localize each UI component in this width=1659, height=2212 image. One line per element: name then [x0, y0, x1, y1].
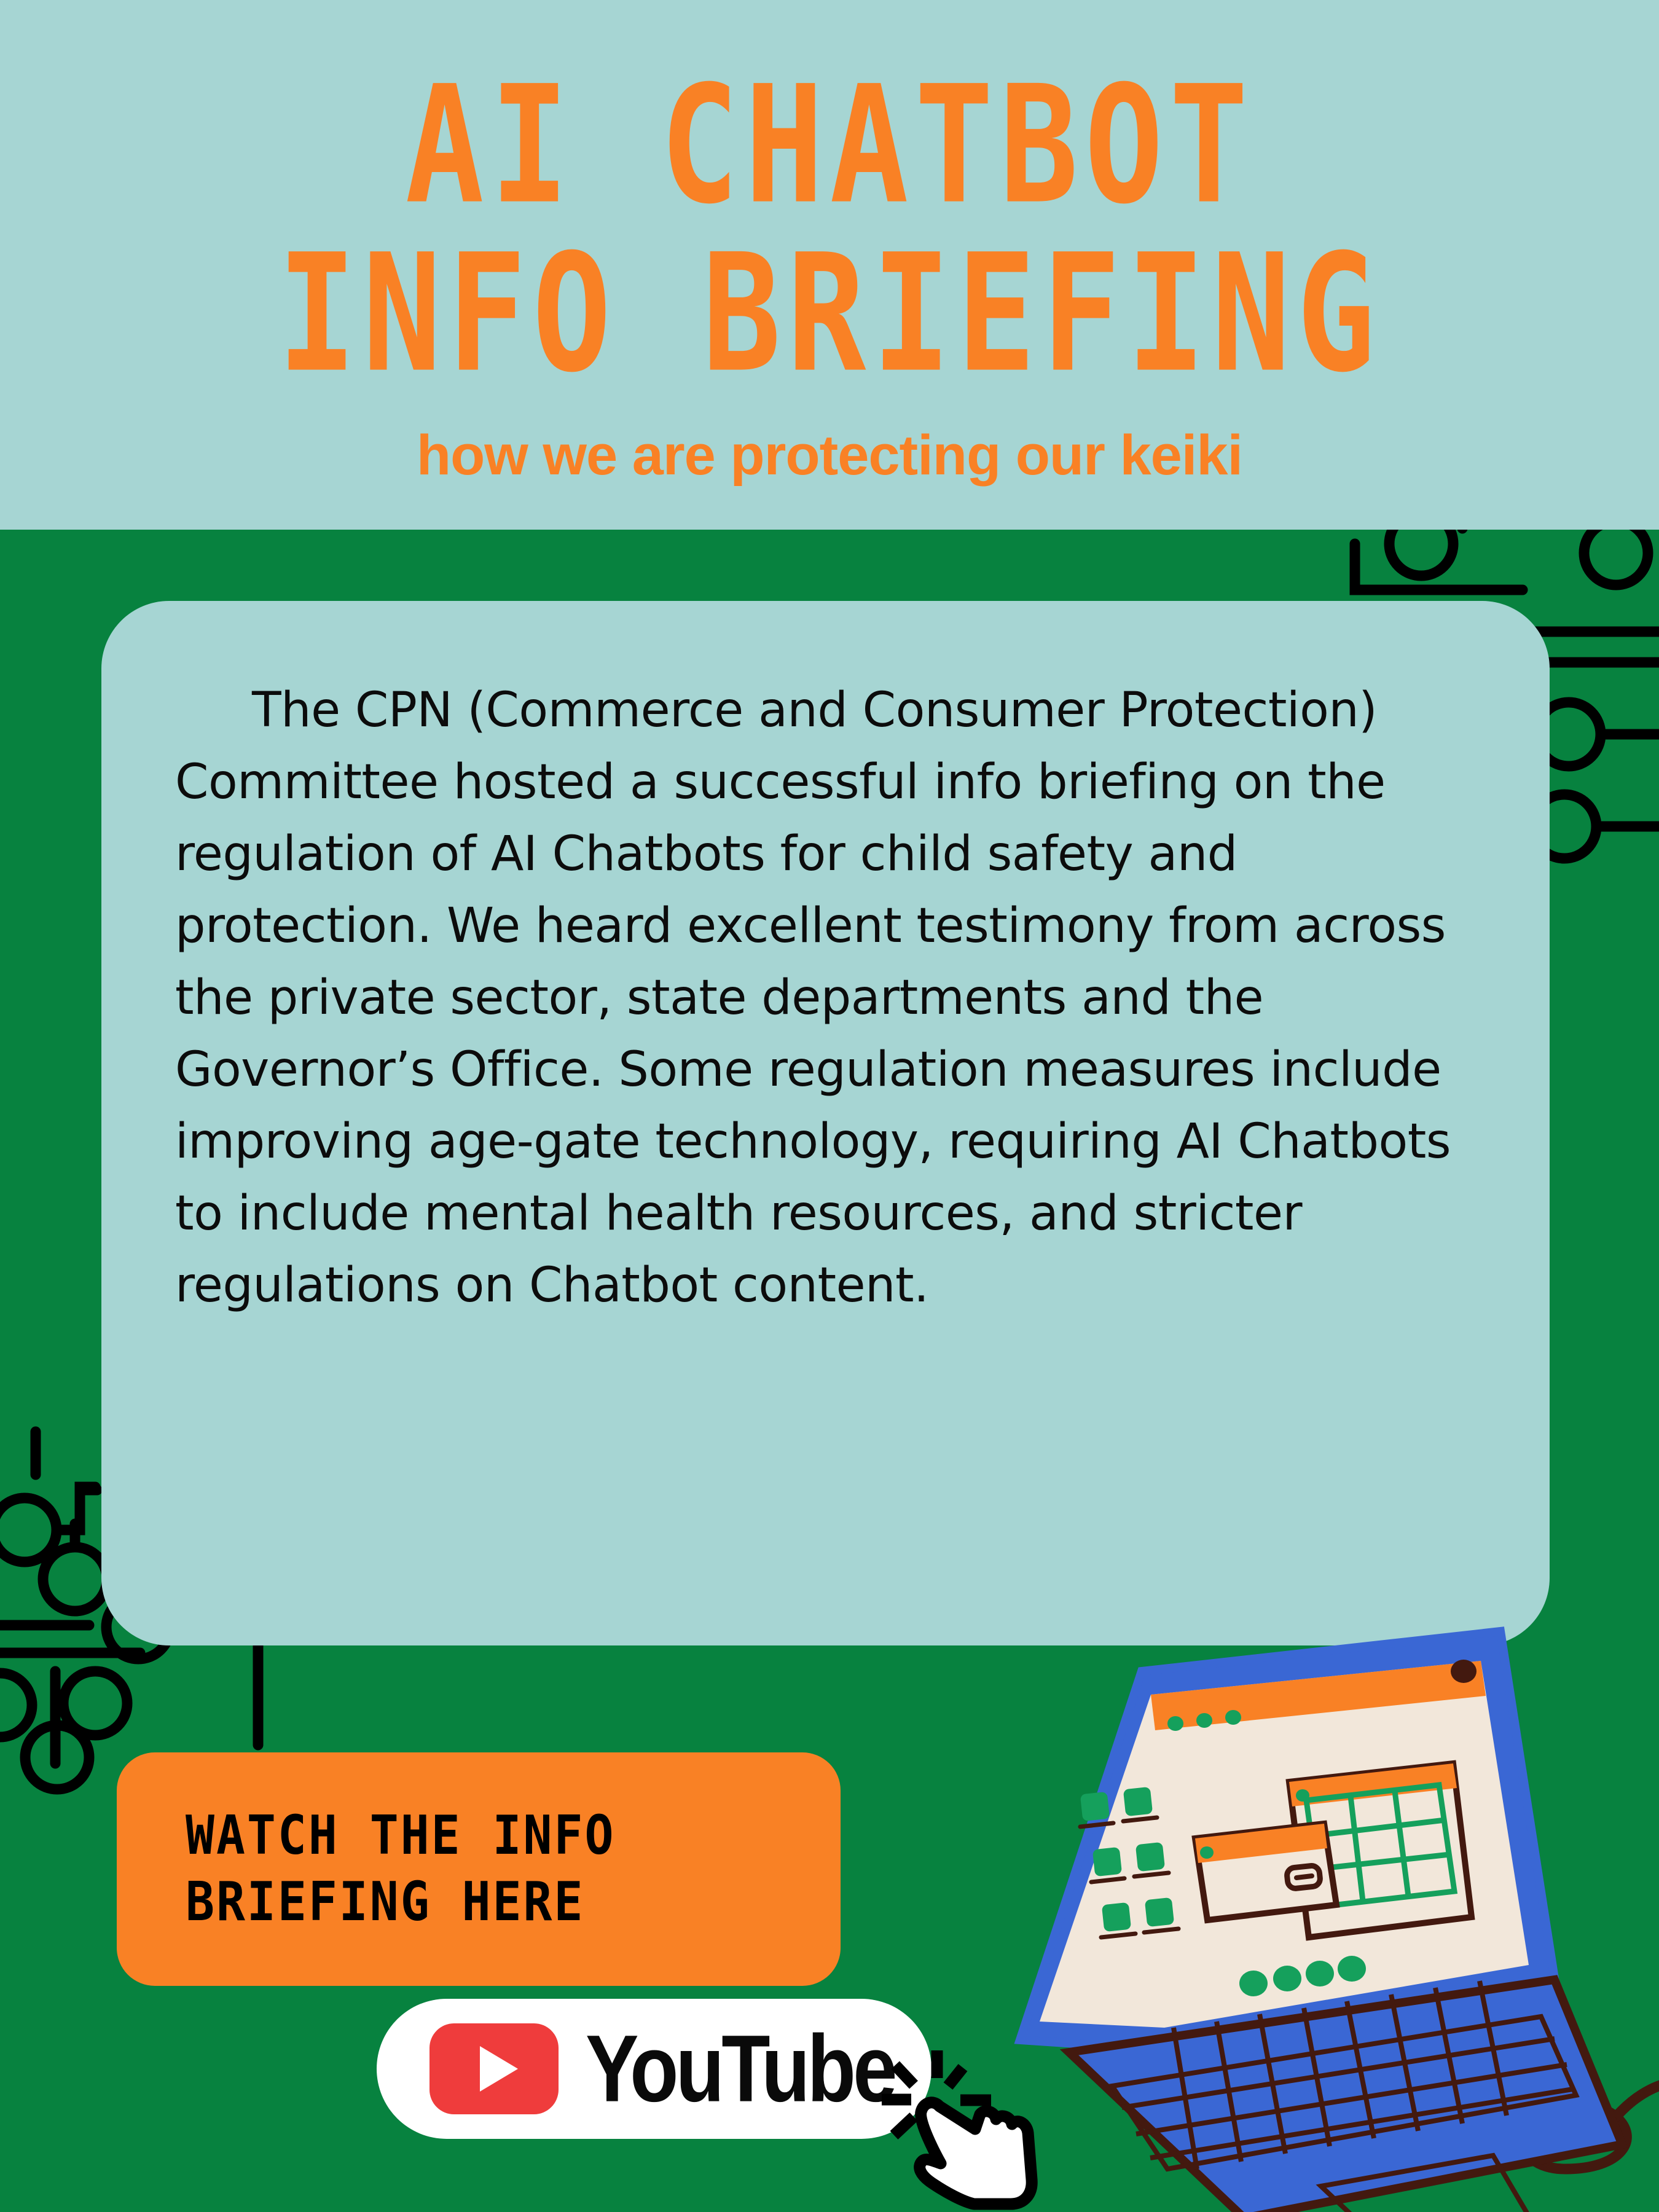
youtube-link-badge[interactable]: YouTube: [377, 1999, 931, 2139]
page-title-line-2: INFO BRIEFING: [278, 235, 1381, 394]
info-card: The CPN (Commerce and Consumer Protectio…: [101, 601, 1550, 1645]
page-title-line-1: AI CHATBOT: [405, 66, 1254, 226]
poster-canvas: AI CHATBOT INFO BRIEFING how we are prot…: [0, 0, 1659, 2212]
cta-label-line-1: WATCH THE INFO: [186, 1809, 615, 1862]
watch-info-briefing-button[interactable]: WATCH THE INFO BRIEFING HERE: [117, 1752, 841, 1986]
laptop-illustration: [1002, 1598, 1659, 2212]
page-subtitle: how we are protecting our keiki: [417, 423, 1242, 488]
cta-label-line-2: BRIEFING HERE: [186, 1875, 584, 1929]
youtube-play-icon: [429, 2023, 559, 2114]
poster-header: AI CHATBOT INFO BRIEFING how we are prot…: [0, 0, 1659, 530]
youtube-wordmark: YouTube: [586, 2022, 895, 2117]
info-card-paragraph: The CPN (Commerce and Consumer Protectio…: [175, 675, 1482, 1322]
